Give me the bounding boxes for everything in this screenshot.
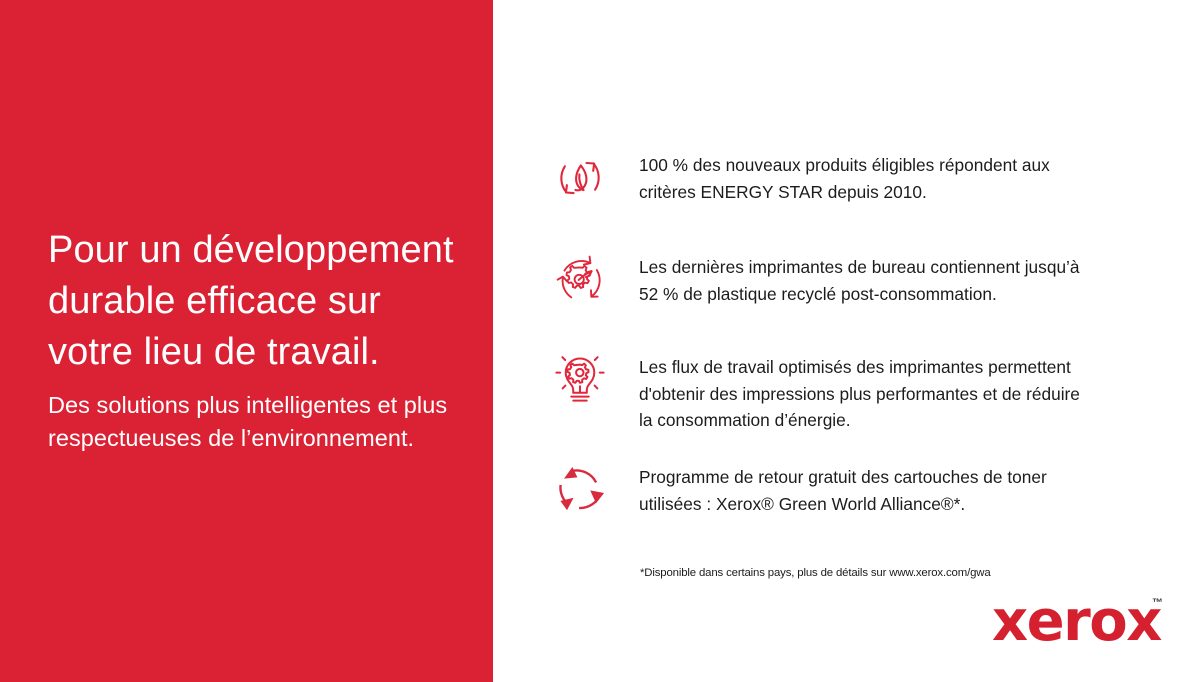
xerox-logo: xerox ™ <box>992 596 1172 648</box>
footnote-text: *Disponible dans certains pays, plus de … <box>640 566 991 581</box>
trademark-symbol: ™ <box>1152 598 1163 609</box>
list-item-text: Programme de retour gratuit des cartouch… <box>639 464 1139 517</box>
lightbulb-gear-icon <box>548 348 612 412</box>
list-item-text: Les flux de travail optimisés des imprim… <box>639 354 1139 434</box>
xerox-wordmark: xerox <box>992 596 1161 648</box>
recycle-leaf-icon <box>548 146 612 210</box>
list-item-text: Les dernières imprimantes de bureau cont… <box>639 254 1139 307</box>
recycle-gear-leaf-icon <box>548 248 612 312</box>
page-subtitle: Des solutions plus intelligentes et plus… <box>48 389 478 455</box>
left-red-panel: Pour un développement durable efficace s… <box>0 0 493 682</box>
marketing-poster: Pour un développement durable efficace s… <box>0 0 1200 682</box>
list-item-text: 100 % des nouveaux produits éligibles ré… <box>639 152 1139 205</box>
recycle-arrows-icon <box>548 458 612 522</box>
page-title: Pour un développement durable efficace s… <box>48 225 468 378</box>
